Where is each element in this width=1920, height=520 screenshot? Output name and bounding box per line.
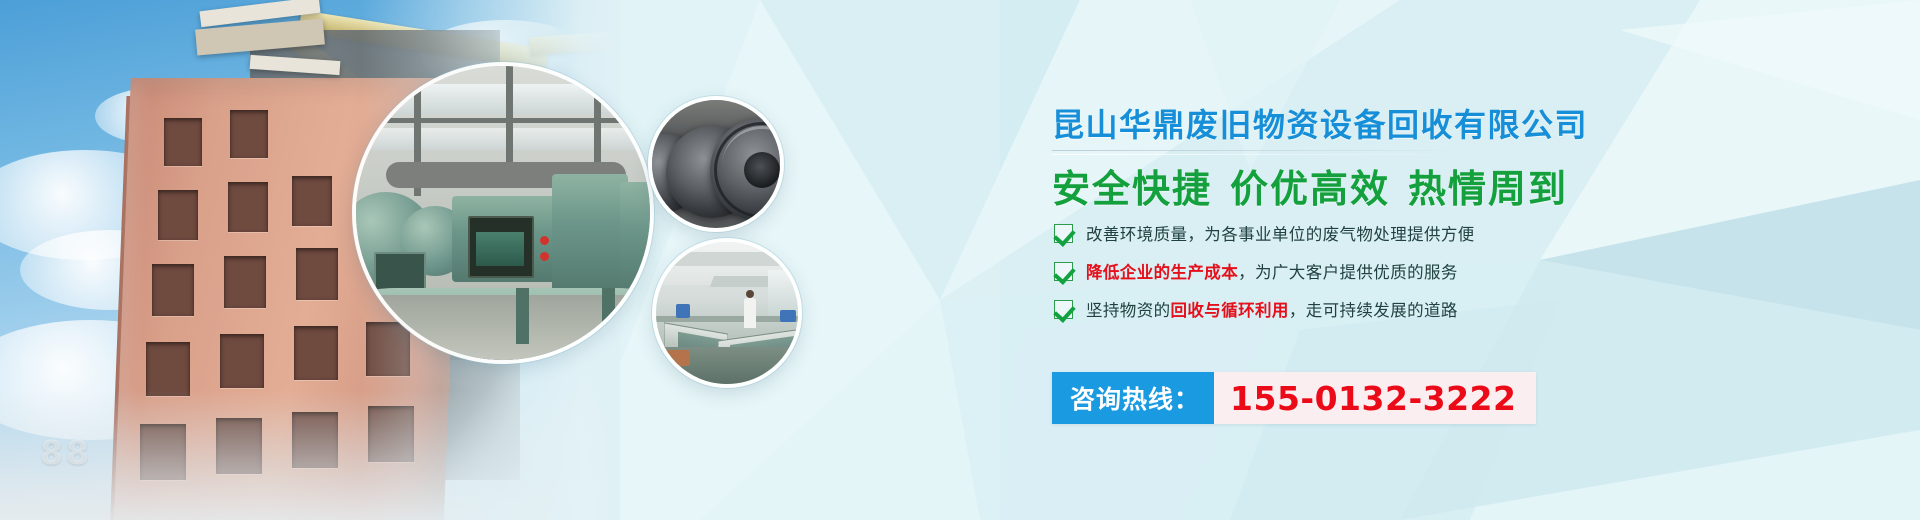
promo-banner: 88: [0, 0, 1920, 520]
building-window: [220, 334, 264, 388]
list-item-label: 改善环境质量，为各事业单位的废气物处理提供方便: [1086, 221, 1475, 245]
building-window: [224, 256, 266, 308]
colored-parts: [660, 350, 690, 366]
factory-window-strip: [356, 84, 650, 114]
building-window: [146, 342, 190, 396]
list-item-label: 降低企业的生产成本，为广大客户提供优质的服务: [1086, 259, 1458, 283]
chiller-cabinet: [552, 174, 628, 292]
building-window: [230, 110, 268, 158]
tank-support-leg: [602, 288, 615, 338]
divider-line-highlight: [1052, 154, 1462, 155]
company-name: 昆山华鼎废旧物资设备回收有限公司: [1052, 100, 1588, 146]
bullet-3-post: ，走可持续发展的道路: [1289, 301, 1458, 320]
bullet-2-post: ，为广大客户提供优质的服务: [1238, 263, 1458, 282]
bullet-1-pre: 改善环境质量，为各事业单位的废气物处理提供方便: [1086, 225, 1475, 244]
divider-line: [1052, 150, 1462, 151]
worker-head: [746, 290, 754, 298]
steel-coils-photo: [648, 96, 784, 232]
building-window: [228, 182, 268, 232]
blue-fixture: [676, 304, 690, 318]
slogan: 安全快捷价优高效热情周到: [1052, 158, 1568, 213]
indicator-light: [540, 236, 549, 245]
worker-figure: [744, 298, 756, 328]
factory-workshop-photo: [652, 238, 802, 388]
indicator-light: [540, 252, 549, 261]
bullet-3-highlight: 回收与循环利用: [1171, 301, 1289, 320]
industrial-chiller-photo: [352, 62, 654, 364]
check-icon: [1054, 224, 1073, 243]
check-icon: [1054, 262, 1073, 281]
banner-content: 昆山华鼎废旧物资设备回收有限公司 安全快捷价优高效热情周到 改善环境质量，为各事…: [1052, 0, 1872, 520]
building-window: [164, 118, 202, 166]
feature-list: 改善环境质量，为各事业单位的废气物处理提供方便 降低企业的生产成本，为广大客户提…: [1054, 214, 1475, 328]
chiller-cabinet: [620, 182, 654, 294]
building-window: [158, 190, 198, 240]
factory-beam: [356, 118, 650, 123]
check-icon: [1054, 300, 1073, 319]
list-item: 改善环境质量，为各事业单位的废气物处理提供方便: [1054, 214, 1475, 252]
blue-fixture: [780, 310, 796, 322]
tank-support-leg: [516, 288, 529, 344]
bullet-2-highlight: 降低企业的生产成本: [1086, 263, 1238, 282]
building-window: [152, 264, 194, 316]
building-window: [296, 248, 338, 300]
bullet-3-pre: 坚持物资的: [1086, 301, 1171, 320]
list-item: 降低企业的生产成本，为广大客户提供优质的服务: [1054, 252, 1475, 290]
hotline-number[interactable]: 155-0132-3222: [1214, 372, 1536, 424]
slogan-part-2: 价优高效: [1230, 167, 1390, 211]
slogan-part-3: 热情周到: [1408, 167, 1568, 211]
factory-window-strip: [356, 128, 650, 150]
building-window: [294, 326, 338, 380]
building-window: [292, 176, 332, 226]
slogan-part-1: 安全快捷: [1052, 167, 1212, 211]
list-item: 坚持物资的回收与循环利用，走可持续发展的道路: [1054, 290, 1475, 328]
list-item-label: 坚持物资的回收与循环利用，走可持续发展的道路: [1086, 297, 1458, 321]
control-panel-screen: [476, 232, 524, 266]
ceiling-duct: [667, 252, 796, 266]
hotline-label: 咨询热线：: [1052, 372, 1214, 424]
hotline-bar[interactable]: 咨询热线： 155-0132-3222: [1052, 372, 1536, 424]
